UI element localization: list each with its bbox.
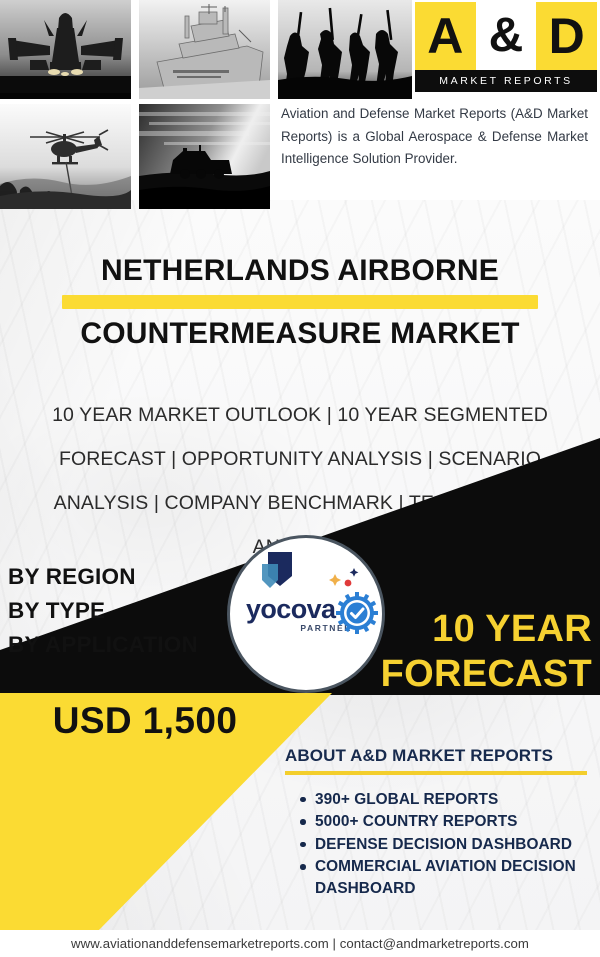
intro-paragraph: Aviation and Defense Market Reports (A&D… [281, 103, 588, 171]
logo-tagline-bar: MARKET REPORTS [415, 70, 597, 92]
logo-letter-a: A [415, 2, 476, 70]
yocova-partner-badge: yocova PARTNER [227, 535, 385, 693]
photo-soldiers-silhouette [278, 0, 412, 99]
title-accent-bar [62, 295, 538, 309]
verified-check-seal-icon [336, 592, 378, 634]
about-bullet-item: 390+ GLOBAL REPORTS [315, 789, 590, 811]
photo-fighter-jet [0, 0, 131, 99]
price-value: USD 1,500 [0, 700, 290, 742]
footer-contact-bar: www.aviationanddefensemarketreports.com … [0, 930, 600, 957]
logo-letter-d: D [536, 2, 597, 70]
footer-contact-text: www.aviationanddefensemarketreports.com … [71, 936, 529, 951]
photo-naval-ship [139, 0, 270, 99]
logo-ampersand: & [476, 2, 537, 70]
segmentation-item-application: BY APPLICATION [8, 628, 198, 662]
title-line-1: NETHERLANDS AIRBORNE [0, 250, 600, 292]
about-bullet-item: DEFENSE DECISION DASHBOARD [315, 834, 590, 856]
ad-market-reports-logo: A & D MARKET REPORTS [415, 2, 597, 92]
logo-tagline: MARKET REPORTS [439, 75, 572, 87]
segmentation-list: BY REGION BY TYPE BY APPLICATION [8, 560, 198, 662]
photo-armored-vehicle [139, 104, 270, 209]
about-bullet-list: 390+ GLOBAL REPORTS 5000+ COUNTRY REPORT… [285, 789, 590, 900]
about-bullet-item: 5000+ COUNTRY REPORTS [315, 811, 590, 833]
segmentation-item-type: BY TYPE [8, 594, 198, 628]
title-line-2: COUNTERMEASURE MARKET [0, 313, 600, 355]
about-heading-underline [285, 771, 587, 775]
page-title: NETHERLANDS AIRBORNE COUNTERMEASURE MARK… [0, 250, 600, 355]
logo-letter-blocks: A & D [415, 2, 597, 70]
poster-root: A & D MARKET REPORTS Aviation and Defens… [0, 0, 600, 957]
segmentation-item-region: BY REGION [8, 560, 198, 594]
about-section: ABOUT A&D MARKET REPORTS 390+ GLOBAL REP… [285, 745, 590, 900]
photo-helicopter [0, 104, 131, 209]
about-heading: ABOUT A&D MARKET REPORTS [285, 745, 590, 767]
about-bullet-item: COMMERCIAL AVIATION DECISION DASHBOARD [315, 856, 590, 899]
yocova-mark-icon [262, 546, 324, 596]
badge-sparkle-dots-icon [326, 566, 360, 594]
